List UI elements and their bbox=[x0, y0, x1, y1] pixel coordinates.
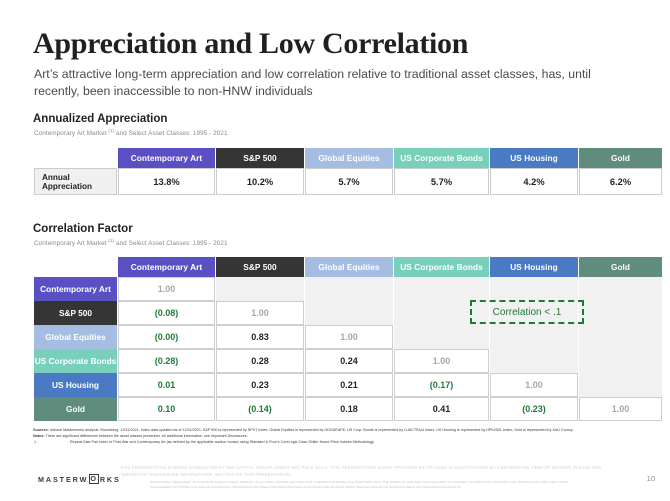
cell-geq-art: (0.00) bbox=[118, 325, 215, 349]
appreciation-subheading-pre: Contemporary Art Market bbox=[34, 130, 108, 137]
cell-geq-sp500: 0.83 bbox=[216, 325, 304, 349]
header-us-corporate-bonds: US Corporate Bonds bbox=[394, 257, 489, 277]
table-row: Contemporary Art 1.00 bbox=[34, 277, 662, 301]
cell-bonds-sp500: 0.28 bbox=[216, 349, 304, 373]
header-us-housing: US Housing bbox=[490, 148, 578, 168]
cell-house-bonds: (0.17) bbox=[394, 373, 489, 397]
notes-line: Notes: There are significant differences… bbox=[33, 434, 649, 440]
table-row: Annual Appreciation 13.8% 10.2% 5.7% 5.7… bbox=[34, 168, 662, 195]
cell-empty bbox=[490, 277, 578, 301]
disclaimer-primary: THIS PRESENTATION IS BEING CONDUCTED BY … bbox=[120, 464, 612, 478]
row-label-annual-appreciation: Annual Appreciation bbox=[34, 168, 117, 195]
slide-canvas: Appreciation and Low Correlation Art’s a… bbox=[0, 0, 670, 501]
cell-gold-bonds: 0.41 bbox=[394, 397, 489, 421]
cell-gold-house: (0.23) bbox=[490, 397, 578, 421]
header-sp500: S&P 500 bbox=[216, 148, 304, 168]
correlation-factor-table: Contemporary Art S&P 500 Global Equities… bbox=[33, 257, 663, 421]
row-header-contemporary-art: Contemporary Art bbox=[34, 277, 117, 301]
cell-art-art: 1.00 bbox=[118, 277, 215, 301]
cell-appreciation-global-equities: 5.7% bbox=[305, 168, 393, 195]
cell-gold-sp500: (0.14) bbox=[216, 397, 304, 421]
appreciation-section-subheading: Contemporary Art Market (1) and Select A… bbox=[34, 128, 228, 137]
disclaimer-secondary: INDICES ARE UNMANAGED. AN INVESTOR CANNO… bbox=[150, 480, 570, 489]
cell-empty bbox=[579, 277, 662, 301]
notes-label: Notes: bbox=[33, 434, 44, 440]
cell-house-geq: 0.21 bbox=[305, 373, 393, 397]
logo-boxed-o: O bbox=[89, 474, 100, 484]
row-header-us-housing: US Housing bbox=[34, 373, 117, 397]
cell-house-house: 1.00 bbox=[490, 373, 578, 397]
masterworks-logo: MASTERWORKS bbox=[38, 474, 121, 484]
header-global-equities: Global Equities bbox=[305, 148, 393, 168]
note-number: 1. bbox=[52, 440, 70, 446]
cell-appreciation-us-housing: 4.2% bbox=[490, 168, 578, 195]
cell-appreciation-us-corporate-bonds: 5.7% bbox=[394, 168, 489, 195]
cell-geq-geq: 1.00 bbox=[305, 325, 393, 349]
cell-empty bbox=[216, 277, 304, 301]
appreciation-section-heading: Annualized Appreciation bbox=[33, 113, 167, 125]
header-gold: Gold bbox=[579, 257, 662, 277]
cell-empty bbox=[579, 373, 662, 397]
cell-empty bbox=[579, 325, 662, 349]
header-sp500: S&P 500 bbox=[216, 257, 304, 277]
row-header-us-corporate-bonds: US Corporate Bonds bbox=[34, 349, 117, 373]
table-row: Gold 0.10 (0.14) 0.18 0.41 (0.23) 1.00 bbox=[34, 397, 662, 421]
header-us-corporate-bonds: US Corporate Bonds bbox=[394, 148, 489, 168]
cell-empty bbox=[305, 301, 393, 325]
cell-bonds-bonds: 1.00 bbox=[394, 349, 489, 373]
cell-empty bbox=[579, 349, 662, 373]
annualized-appreciation-table: Contemporary Art S&P 500 Global Equities… bbox=[33, 148, 663, 195]
note-text: Repeat-Sale Pair Index of Post-War and C… bbox=[70, 440, 374, 444]
cell-sp500-sp500: 1.00 bbox=[216, 301, 304, 325]
header-global-equities: Global Equities bbox=[305, 257, 393, 277]
cell-sp500-art: (0.08) bbox=[118, 301, 215, 325]
cell-gold-art: 0.10 bbox=[118, 397, 215, 421]
cell-empty bbox=[305, 277, 393, 301]
cell-empty bbox=[490, 349, 578, 373]
logo-text-post: RKS bbox=[100, 475, 121, 484]
table-header-row: Contemporary Art S&P 500 Global Equities… bbox=[34, 257, 662, 277]
correlation-callout-box: Correlation < .1 bbox=[470, 300, 584, 324]
header-corner-blank bbox=[34, 257, 117, 277]
cell-house-art: 0.01 bbox=[118, 373, 215, 397]
note-item-1: 1.Repeat-Sale Pair Index of Post-War and… bbox=[33, 440, 649, 446]
table-header-row: Contemporary Art S&P 500 Global Equities… bbox=[34, 148, 662, 168]
header-contemporary-art: Contemporary Art bbox=[118, 148, 215, 168]
cell-house-sp500: 0.23 bbox=[216, 373, 304, 397]
table-row: US Housing 0.01 0.23 0.21 (0.17) 1.00 bbox=[34, 373, 662, 397]
footnotes-block: Sources: Internal Masterworks analysis. … bbox=[33, 428, 649, 446]
cell-empty bbox=[394, 325, 489, 349]
page-subtitle: Art’s attractive long-term appreciation … bbox=[34, 66, 634, 100]
cell-gold-geq: 0.18 bbox=[305, 397, 393, 421]
correlation-section-heading: Correlation Factor bbox=[33, 223, 133, 235]
header-gold: Gold bbox=[579, 148, 662, 168]
table-row: US Corporate Bonds (0.28) 0.28 0.24 1.00 bbox=[34, 349, 662, 373]
cell-empty bbox=[394, 277, 489, 301]
notes-text: There are significant differences betwee… bbox=[44, 434, 247, 438]
appreciation-subheading-post: and Select Asset Classes: 1995 - 2021 bbox=[114, 130, 227, 137]
header-us-housing: US Housing bbox=[490, 257, 578, 277]
row-header-sp500: S&P 500 bbox=[34, 301, 117, 325]
cell-gold-gold: 1.00 bbox=[579, 397, 662, 421]
cell-empty bbox=[490, 325, 578, 349]
sources-text: Internal Masterworks analysis. Bloomberg… bbox=[49, 428, 574, 432]
header-contemporary-art: Contemporary Art bbox=[118, 257, 215, 277]
cell-appreciation-sp500: 10.2% bbox=[216, 168, 304, 195]
cell-appreciation-contemporary-art: 13.8% bbox=[118, 168, 215, 195]
correlation-section-subheading: Contemporary Art Market (1) and Select A… bbox=[34, 238, 228, 247]
cell-empty bbox=[579, 301, 662, 325]
correlation-subheading-post: and Select Asset Classes: 1995 - 2021 bbox=[114, 240, 227, 247]
correlation-subheading-pre: Contemporary Art Market bbox=[34, 240, 108, 247]
table-row: Global Equities (0.00) 0.83 1.00 bbox=[34, 325, 662, 349]
correlation-callout-label: Correlation < .1 bbox=[493, 307, 562, 318]
page-number: 10 bbox=[647, 474, 655, 483]
cell-bonds-geq: 0.24 bbox=[305, 349, 393, 373]
row-header-gold: Gold bbox=[34, 397, 117, 421]
cell-appreciation-gold: 6.2% bbox=[579, 168, 662, 195]
cell-bonds-art: (0.28) bbox=[118, 349, 215, 373]
header-corner-blank bbox=[34, 148, 117, 168]
page-title: Appreciation and Low Correlation bbox=[33, 27, 468, 61]
logo-text-pre: MASTERW bbox=[38, 475, 88, 484]
row-header-global-equities: Global Equities bbox=[34, 325, 117, 349]
